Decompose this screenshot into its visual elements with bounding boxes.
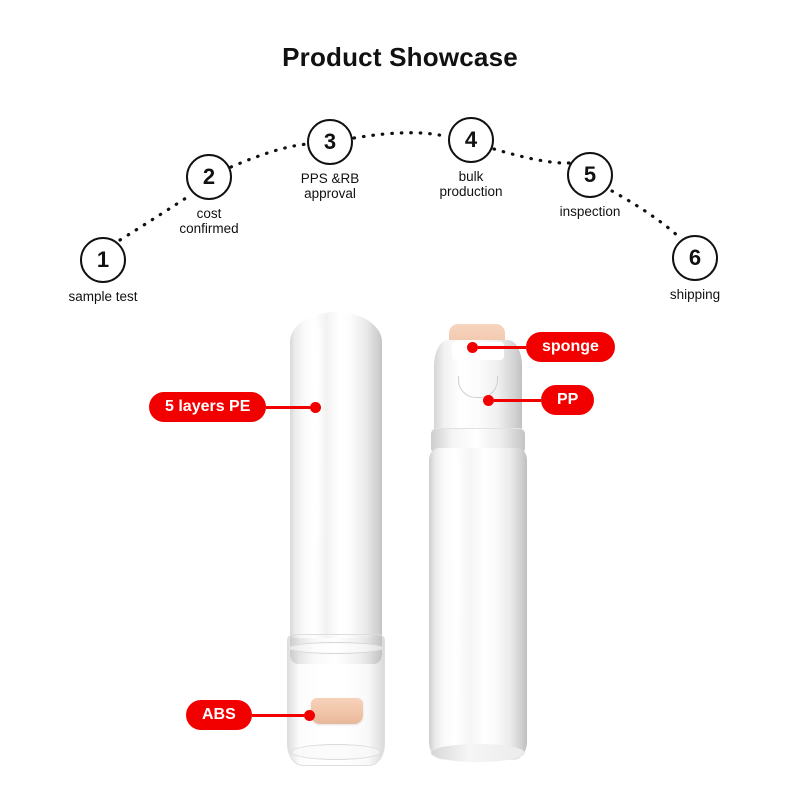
callout-label: ABS xyxy=(186,700,252,730)
callout-anchor-dot xyxy=(483,395,494,406)
right-tube-body xyxy=(429,448,527,760)
product-image-left xyxy=(285,312,390,762)
callout-sponge[interactable]: sponge xyxy=(467,332,615,362)
flow-step-3[interactable]: 3 PPS &RB approval xyxy=(255,119,405,201)
callout-anchor-dot xyxy=(467,342,478,353)
callout-leader-line xyxy=(266,406,310,409)
flow-step-6[interactable]: 6 shipping xyxy=(620,235,770,302)
callout-leader-line xyxy=(252,714,304,717)
left-tube-pe-body xyxy=(290,312,382,652)
step-number-circle: 3 xyxy=(307,119,353,165)
left-tube-highlight xyxy=(311,326,321,636)
step-label: cost confirmed xyxy=(134,206,284,236)
product-showcase-area: 5 layers PE ABS sponge PP xyxy=(0,300,800,800)
callout-label: PP xyxy=(541,385,594,415)
step-number-circle: 2 xyxy=(186,154,232,200)
callout-abs[interactable]: ABS xyxy=(186,700,315,730)
callout-anchor-dot xyxy=(304,710,315,721)
right-tube-highlight xyxy=(452,460,461,730)
callout-label: 5 layers PE xyxy=(149,392,266,422)
step-number-circle: 1 xyxy=(80,237,126,283)
left-sponge-applicator xyxy=(311,698,363,724)
process-flow: 1 sample test 2 cost confirmed 3 PPS &RB… xyxy=(0,0,800,330)
step-number-circle: 6 xyxy=(672,235,718,281)
callout-label: sponge xyxy=(526,332,615,362)
step-label: PPS &RB approval xyxy=(255,171,405,201)
flow-step-1[interactable]: 1 sample test xyxy=(28,237,178,304)
flow-step-5[interactable]: 5 inspection xyxy=(515,152,665,219)
step-label: inspection xyxy=(515,204,665,219)
right-tube-base xyxy=(431,744,525,762)
callout-pp[interactable]: PP xyxy=(483,385,594,415)
step-number-circle: 4 xyxy=(448,117,494,163)
left-abs-cap-base xyxy=(291,744,381,760)
step-number-circle: 5 xyxy=(567,152,613,198)
callout-anchor-dot xyxy=(310,402,321,413)
left-abs-cap-rim xyxy=(288,642,384,654)
callout-leader-line xyxy=(478,346,526,349)
callout-leader-line xyxy=(494,399,541,402)
callout-five-layers-pe[interactable]: 5 layers PE xyxy=(149,392,321,422)
